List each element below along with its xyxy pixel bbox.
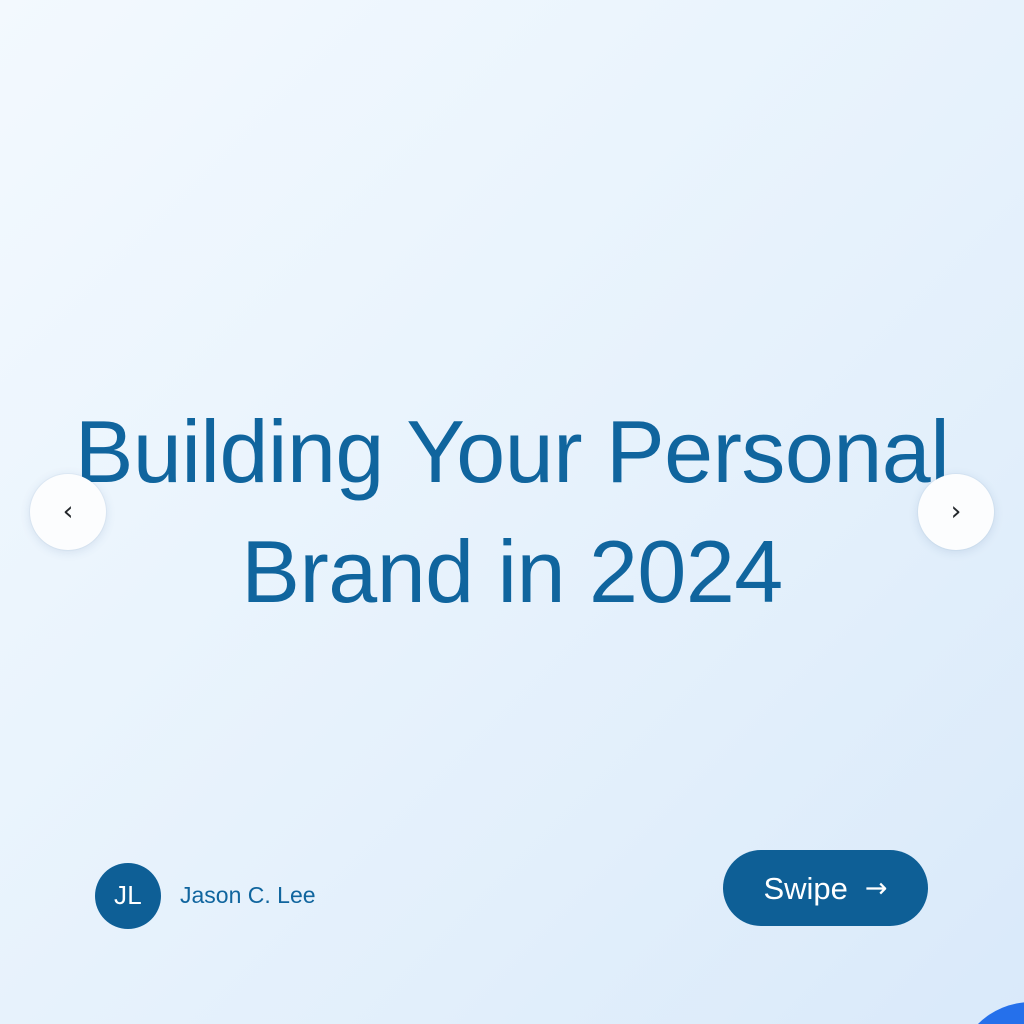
arrow-right-icon: → bbox=[865, 875, 888, 902]
prev-slide-button[interactable]: ‹ bbox=[30, 474, 106, 550]
author-name: Jason C. Lee bbox=[180, 882, 316, 909]
page-title: Building Your Personal Brand in 2024 bbox=[60, 392, 964, 631]
carousel-slide: Building Your Personal Brand in 2024 ‹ ›… bbox=[0, 0, 1024, 1024]
chevron-right-icon: › bbox=[951, 498, 962, 525]
author-byline: JL Jason C. Lee bbox=[95, 862, 316, 929]
swipe-button-label: Swipe bbox=[763, 873, 847, 904]
avatar: JL bbox=[95, 863, 161, 929]
swipe-button[interactable]: Swipe → bbox=[723, 850, 928, 926]
next-slide-button[interactable]: › bbox=[918, 474, 994, 550]
chevron-left-icon: ‹ bbox=[63, 498, 74, 525]
